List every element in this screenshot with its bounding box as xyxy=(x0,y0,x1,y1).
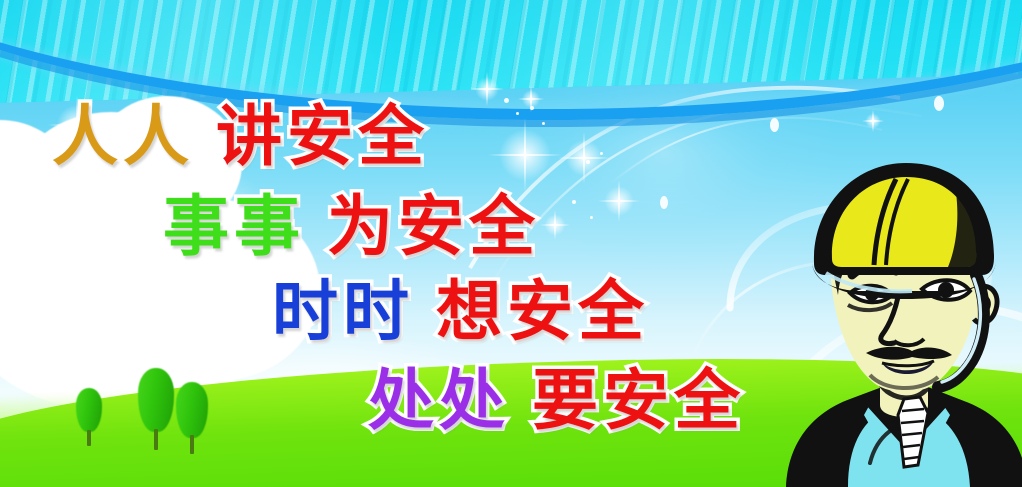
sparkle-dot xyxy=(516,112,519,115)
sparkle-dot xyxy=(504,98,509,103)
tree-medium-right xyxy=(176,382,208,454)
sparkle-dot xyxy=(542,122,545,125)
slogan-line-2-suffix: 为安全 xyxy=(327,194,540,260)
slogan-line-4-suffix: 要安全 xyxy=(532,368,745,434)
sparkle-dot xyxy=(600,152,603,155)
sparkle-dot xyxy=(590,216,593,219)
slogan-line-4-prefix: 处处 xyxy=(368,368,510,434)
sparkle-dot xyxy=(770,118,779,132)
sparkle-dot xyxy=(660,196,668,209)
slogan-line-1-prefix: 人人 xyxy=(52,104,194,170)
slogan-line-1-suffix: 讲安全 xyxy=(216,104,429,170)
safety-poster: 人人讲安全 事事为安全 时时想安全 处处要安全 xyxy=(0,0,1022,487)
sparkle-dot xyxy=(934,96,944,111)
slogan-line-3: 时时想安全 xyxy=(272,279,649,345)
tree-tall-middle xyxy=(138,368,174,450)
sparkle-dot xyxy=(586,160,590,164)
tree-small-left xyxy=(76,388,102,446)
slogan-line-2-prefix: 事事 xyxy=(163,194,305,260)
slogan-line-3-prefix: 时时 xyxy=(272,279,414,345)
slogan-line-1: 人人讲安全 xyxy=(52,104,429,170)
construction-worker-illustration xyxy=(778,147,1022,487)
slogan-line-4: 处处要安全 xyxy=(368,368,745,434)
slogan-line-3-suffix: 想安全 xyxy=(436,279,649,345)
slogan-line-2: 事事为安全 xyxy=(163,194,540,260)
sparkle-dot xyxy=(530,106,534,110)
sparkle-dot xyxy=(572,200,576,204)
